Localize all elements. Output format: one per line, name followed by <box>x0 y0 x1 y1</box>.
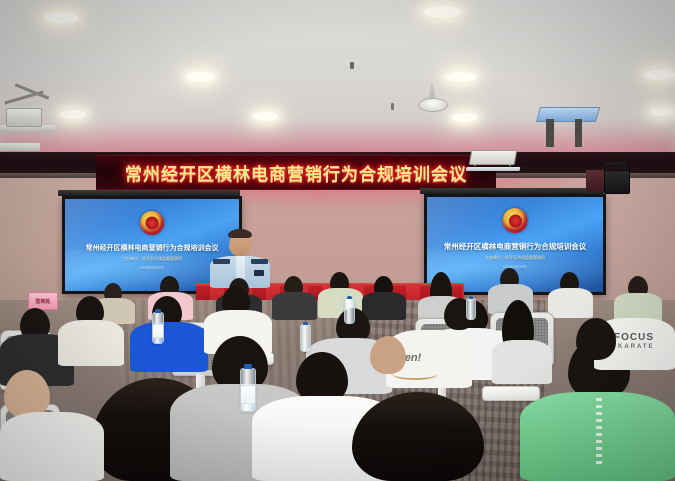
attendee-body <box>492 340 552 384</box>
attendee-body <box>272 292 317 320</box>
wall-speaker-right <box>604 170 630 194</box>
water-bottle[interactable] <box>466 298 476 320</box>
ceiling-sensor <box>391 103 394 110</box>
led-banner-text: 常州经开区横林电商营销行为合规培训会议 <box>125 160 467 185</box>
downlight <box>253 112 278 121</box>
presenter-badge <box>254 270 264 276</box>
attendee-body <box>0 412 104 481</box>
attendee-head <box>4 370 50 418</box>
downlight <box>44 12 78 23</box>
bottle-cap <box>155 309 161 313</box>
police-emblem-icon <box>503 208 528 233</box>
water-bottle[interactable] <box>240 368 256 412</box>
bottle-label <box>153 324 163 338</box>
projector-mount-plate <box>466 167 521 171</box>
conference-room-photo: 常州经开区横林电商营销行为合规培训会议 常州经开区横林电商营销行为合规培训会议 … <box>0 0 675 481</box>
air-vent-bracket <box>575 119 582 147</box>
pendant-light <box>418 98 448 112</box>
shirt-print-decoration <box>596 398 602 468</box>
presenter-hair <box>228 229 252 238</box>
bottle-cap <box>303 322 308 325</box>
presenter-epaulette-left <box>213 259 230 264</box>
water-bottle[interactable] <box>344 298 355 324</box>
downlight <box>424 6 460 18</box>
attendee-head <box>370 336 406 374</box>
shirt-print-right-line1: FOCUS <box>614 332 654 343</box>
screen-roller-left <box>58 190 240 196</box>
attendee-body <box>130 322 208 372</box>
slide-date-left: 2025年6月25日 <box>140 266 164 271</box>
led-banner: 常州经开区横林电商营销行为合规培训会议 <box>96 155 496 190</box>
police-emblem-center <box>509 214 522 227</box>
downlight <box>446 72 476 82</box>
water-bottle[interactable] <box>300 324 311 352</box>
downlight <box>650 108 674 116</box>
police-emblem-icon <box>140 211 164 235</box>
slide-subtitle-left: 主办单位：经开区市场监督管理局 <box>122 256 182 262</box>
shirt-print-right-line2: KARATE <box>618 344 655 350</box>
attendee-body <box>548 288 593 318</box>
downlight <box>645 70 675 80</box>
registration-sign-label: 签到处 <box>35 298 50 305</box>
air-vent-bracket <box>546 119 554 147</box>
screen-roller-right <box>420 188 604 194</box>
police-emblem-center <box>146 217 159 230</box>
downlight <box>452 113 477 122</box>
bottle-label <box>241 385 255 404</box>
attendee-head <box>576 318 616 360</box>
bottle-cap <box>469 296 473 299</box>
water-bottle[interactable] <box>152 312 164 344</box>
tablet-arm[interactable] <box>482 386 540 401</box>
slide-title-right: 常州经开区横林电商营销行为合规培训会议 <box>444 241 587 252</box>
ceiling-equipment <box>6 108 42 127</box>
downlight <box>186 72 215 82</box>
presenter-epaulette-right <box>251 259 268 264</box>
speaker-shelf-left <box>0 143 40 151</box>
attendee-body <box>362 292 406 320</box>
ceiling-projector <box>469 150 518 165</box>
bottle-cap <box>244 364 252 369</box>
bottle-cap <box>347 296 352 299</box>
ceiling-sensor <box>350 62 354 69</box>
slide-title-left: 常州经开区横林电商营销行为合规培训会议 <box>86 243 219 253</box>
attendee-body <box>58 320 124 366</box>
downlight <box>60 110 86 119</box>
slide-subtitle-right: 主办单位：经开区市场监督管理局 <box>485 255 545 261</box>
wall-speaker-right-side <box>586 170 604 192</box>
